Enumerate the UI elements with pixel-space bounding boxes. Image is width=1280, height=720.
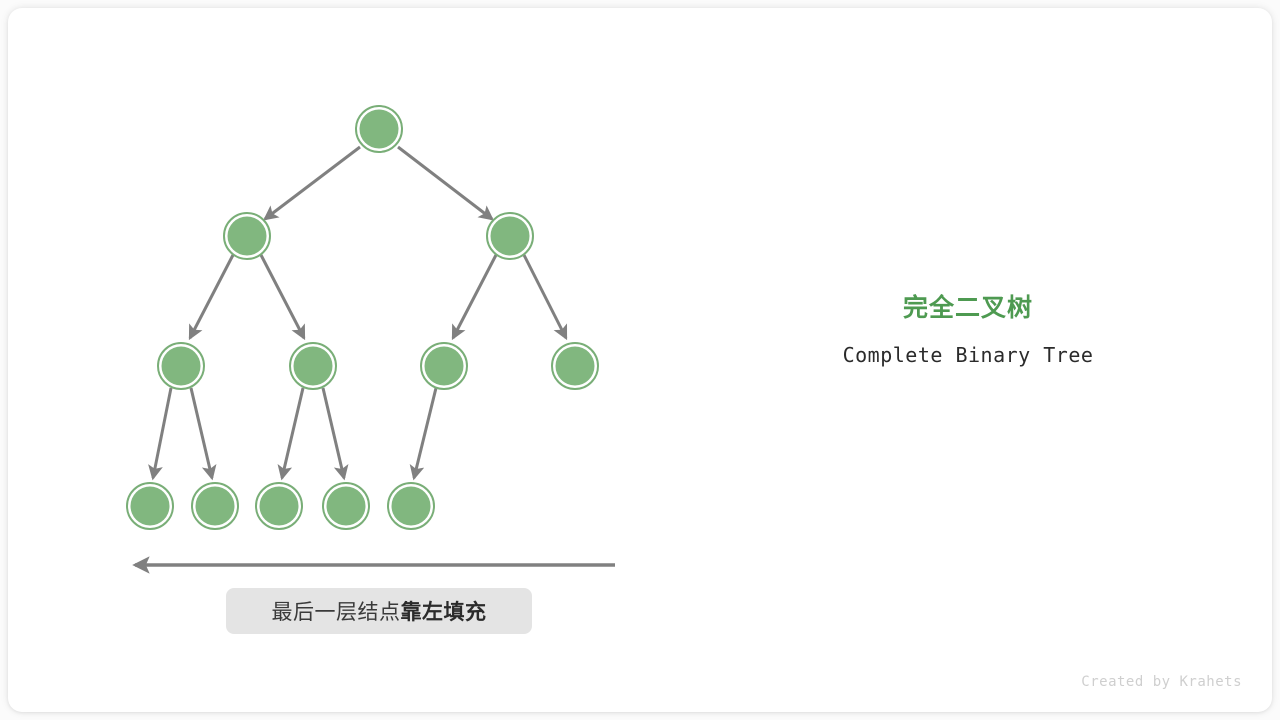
tree-node-fill — [260, 487, 299, 526]
diagram-canvas: 完全二叉树 Complete Binary Tree 最后一层结点靠左填充 Cr… — [0, 0, 1280, 720]
tree-edge — [398, 147, 492, 219]
tree-node-fill — [294, 347, 333, 386]
tree-edge — [191, 388, 212, 478]
tree-edge — [323, 388, 344, 478]
tree-edge — [524, 255, 566, 338]
caption-badge: 最后一层结点靠左填充 — [226, 588, 532, 634]
caption-text: 最后一层结点靠左填充 — [272, 596, 487, 626]
tree-edge — [282, 388, 303, 478]
tree-node-fill — [392, 487, 431, 526]
tree-node-fill — [491, 217, 530, 256]
tree-node-fill — [327, 487, 366, 526]
tree-edge — [190, 255, 233, 338]
tree-node-fill — [196, 487, 235, 526]
caption-text-emphasis: 靠左填充 — [401, 601, 487, 624]
caption-text-plain: 最后一层结点 — [272, 601, 401, 624]
diagram-title-block: 完全二叉树 Complete Binary Tree — [760, 292, 1176, 367]
tree-nodes — [127, 106, 598, 529]
page-title-en: Complete Binary Tree — [760, 343, 1176, 367]
tree-edge — [153, 388, 171, 478]
page-title-cn: 完全二叉树 — [760, 292, 1176, 325]
tree-node-fill — [360, 110, 399, 149]
tree-node-fill — [162, 347, 201, 386]
tree-edge — [453, 255, 496, 338]
tree-node-fill — [228, 217, 267, 256]
tree-edges — [153, 147, 566, 478]
tree-edge — [261, 255, 304, 338]
tree-node-fill — [425, 347, 464, 386]
tree-node-fill — [131, 487, 170, 526]
tree-edge — [414, 388, 436, 478]
tree-edge — [265, 147, 360, 219]
tree-node-fill — [556, 347, 595, 386]
credit-text: Created by Krahets — [900, 674, 1242, 690]
